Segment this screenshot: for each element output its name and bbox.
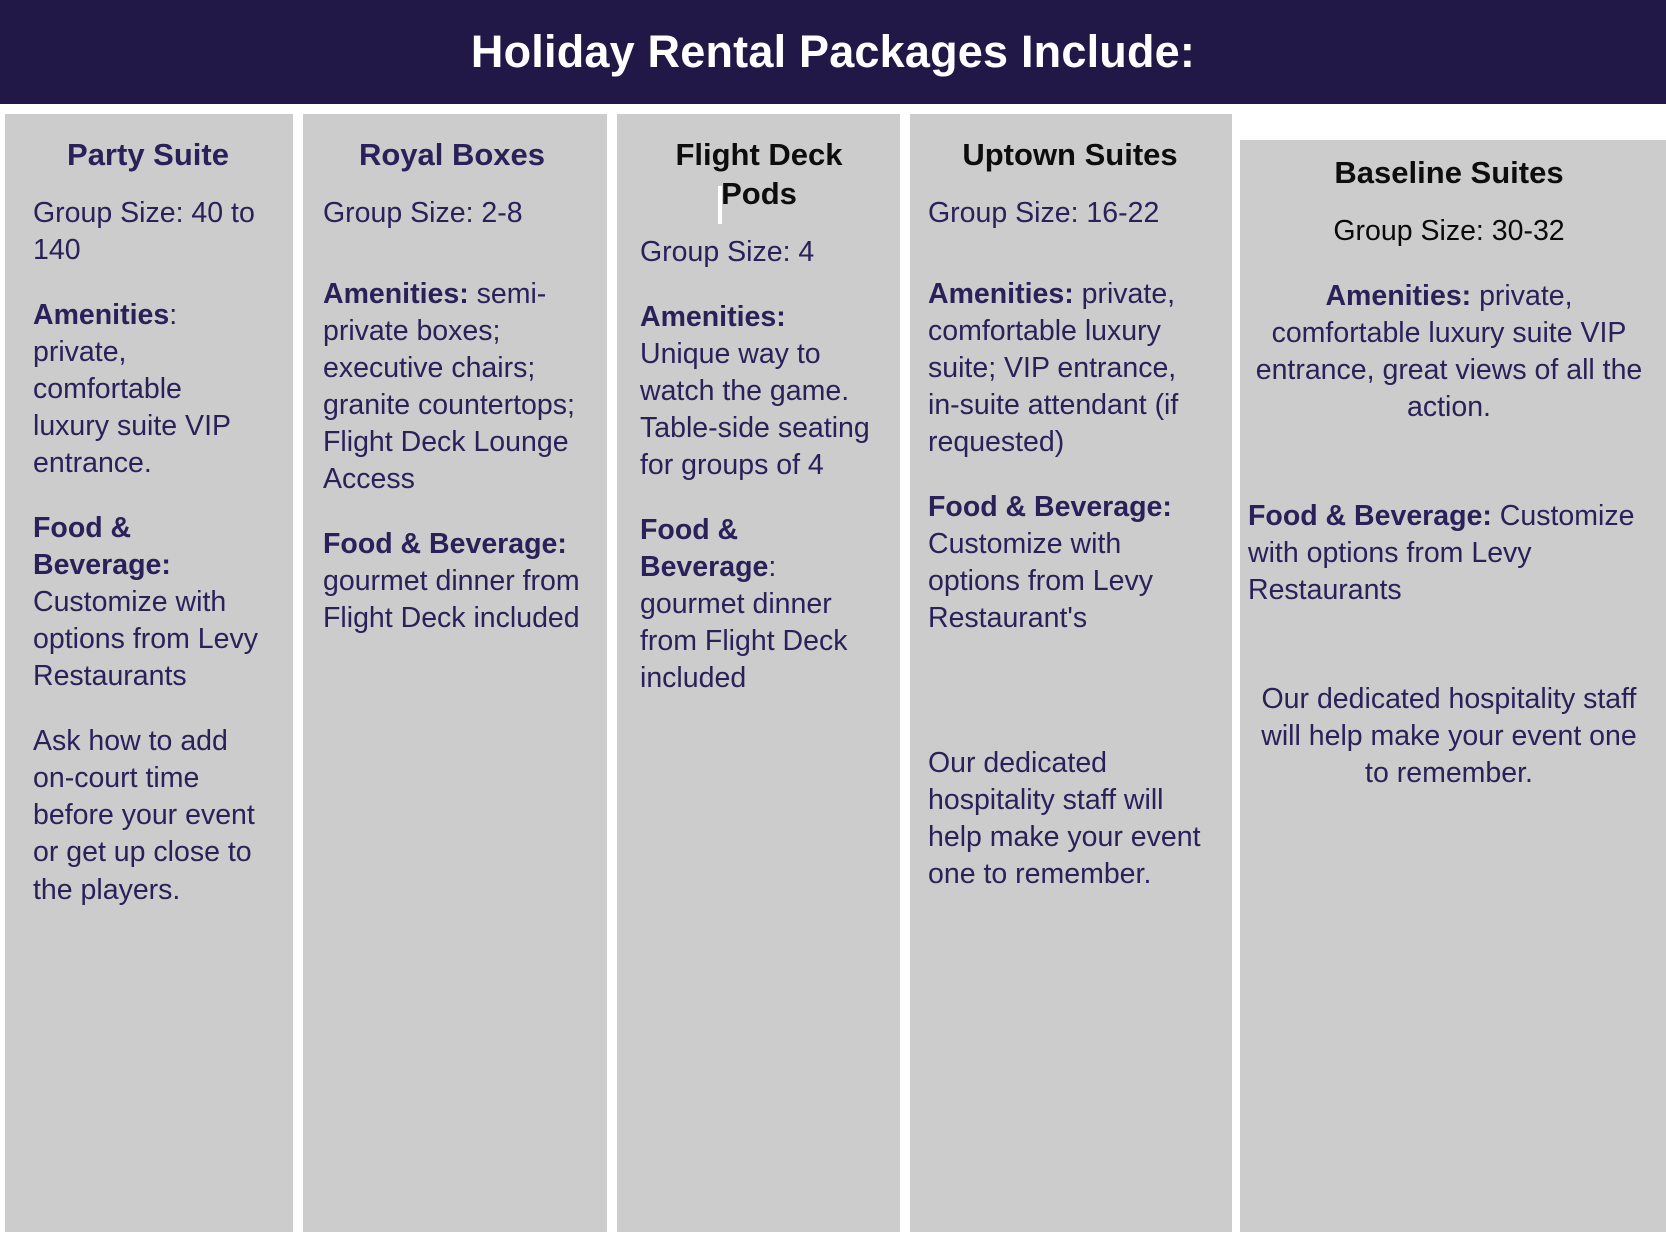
food-beverage-label: Food & Beverage: [323, 528, 567, 560]
spacer [323, 175, 581, 195]
spacer [33, 482, 263, 510]
food-beverage-label: Food & Beverage [640, 514, 768, 583]
food-beverage-paragraph: Food & Beverage: Customize with options … [928, 489, 1212, 637]
amenities-text: Unique way to watch the game. Table-side… [640, 338, 870, 481]
food-beverage-paragraph: Food & Beverage: gourmet dinner from Fli… [640, 512, 878, 697]
amenities-colon: : [169, 299, 177, 331]
column-title: Baseline Suites [1248, 154, 1650, 193]
spacer [928, 175, 1212, 195]
food-beverage-text: Customize with options from Levy Restaur… [33, 586, 258, 692]
food-beverage-text: gourmet dinner from Flight Deck included [323, 565, 580, 634]
group-size-text: Group Size: 2-8 [323, 195, 581, 232]
amenities-label: Amenities [33, 299, 169, 331]
column-title: Party Suite [33, 136, 263, 175]
amenities-paragraph: Amenities: private, comfortable luxury s… [33, 297, 263, 482]
food-beverage-paragraph: Food & Beverage: Customize with options … [1248, 498, 1650, 609]
amenities-label: Amenities: [928, 278, 1074, 310]
package-column-uptown-suites: Uptown Suites Group Size: 16-22 Amenitie… [910, 114, 1232, 1232]
spacer [323, 232, 581, 276]
amenities-paragraph: Amenities: private, comfortable luxury s… [1248, 278, 1650, 426]
food-beverage-text: Customize with options from Levy Restaur… [928, 528, 1153, 634]
slide-canvas: Holiday Rental Packages Include: Party S… [0, 0, 1666, 1236]
spacer [323, 498, 581, 526]
food-beverage-label: Food & Beverage: [33, 512, 171, 581]
group-size-text: Group Size: 16-22 [928, 195, 1212, 232]
amenities-label: Amenities: [640, 301, 786, 333]
amenities-paragraph: Amenities: private, comfortable luxury s… [928, 276, 1212, 461]
spacer [33, 175, 263, 195]
package-column-party-suite: Party Suite Group Size: 40 to 140 Amenit… [5, 114, 293, 1232]
food-beverage-label: Food & Beverage: [928, 491, 1172, 523]
group-size-text: Group Size: 4 [640, 234, 878, 271]
package-column-flight-deck-pods: Flight Deck Pods Group Size: 4 Amenities… [617, 114, 900, 1232]
page-title: Holiday Rental Packages Include: [0, 0, 1666, 104]
group-size-text: Group Size: 40 to 140 [33, 195, 263, 269]
spacer [928, 232, 1212, 276]
amenities-text: semi-private boxes; executive chairs; gr… [323, 278, 575, 495]
extra-note-paragraph: Ask how to add on-court time before your… [33, 723, 263, 908]
spacer [928, 637, 1212, 745]
package-column-baseline-suites: Baseline Suites Group Size: 30-32 Amenit… [1240, 140, 1666, 1232]
spacer [1248, 193, 1650, 213]
amenities-label: Amenities: [1325, 280, 1471, 312]
closing-paragraph: Our dedicated hospitality staff will hel… [928, 745, 1212, 893]
food-beverage-paragraph: Food & Beverage: Customize with options … [33, 510, 263, 695]
spacer [1248, 250, 1650, 278]
food-beverage-paragraph: Food & Beverage: gourmet dinner from Fli… [323, 526, 581, 637]
header-banner: Holiday Rental Packages Include: [0, 0, 1666, 104]
spacer [1248, 426, 1650, 498]
closing-paragraph: Our dedicated hospitality staff will hel… [1248, 681, 1650, 792]
package-column-royal-boxes: Royal Boxes Group Size: 2-8 Amenities: s… [303, 114, 607, 1232]
spacer [1248, 609, 1650, 681]
amenities-label: Amenities: [323, 278, 469, 310]
group-size-text: Group Size: 30-32 [1248, 213, 1650, 250]
spacer [640, 214, 878, 234]
food-beverage-colon: : [768, 551, 776, 583]
spacer [33, 695, 263, 723]
spacer [640, 271, 878, 299]
render-artifact-line [718, 186, 722, 224]
spacer [33, 269, 263, 297]
column-title: Uptown Suites [928, 136, 1212, 175]
food-beverage-text: gourmet dinner from Flight Deck included [640, 588, 847, 694]
amenities-paragraph: Amenities: semi-private boxes; executive… [323, 276, 581, 498]
spacer [928, 461, 1212, 489]
amenities-paragraph: Amenities: Unique way to watch the game.… [640, 299, 878, 484]
spacer [640, 484, 878, 512]
column-title: Royal Boxes [323, 136, 581, 175]
food-beverage-label: Food & Beverage: [1248, 500, 1492, 532]
column-title: Flight Deck Pods [640, 136, 878, 214]
amenities-text: private, comfortable luxury suite VIP en… [33, 336, 230, 479]
